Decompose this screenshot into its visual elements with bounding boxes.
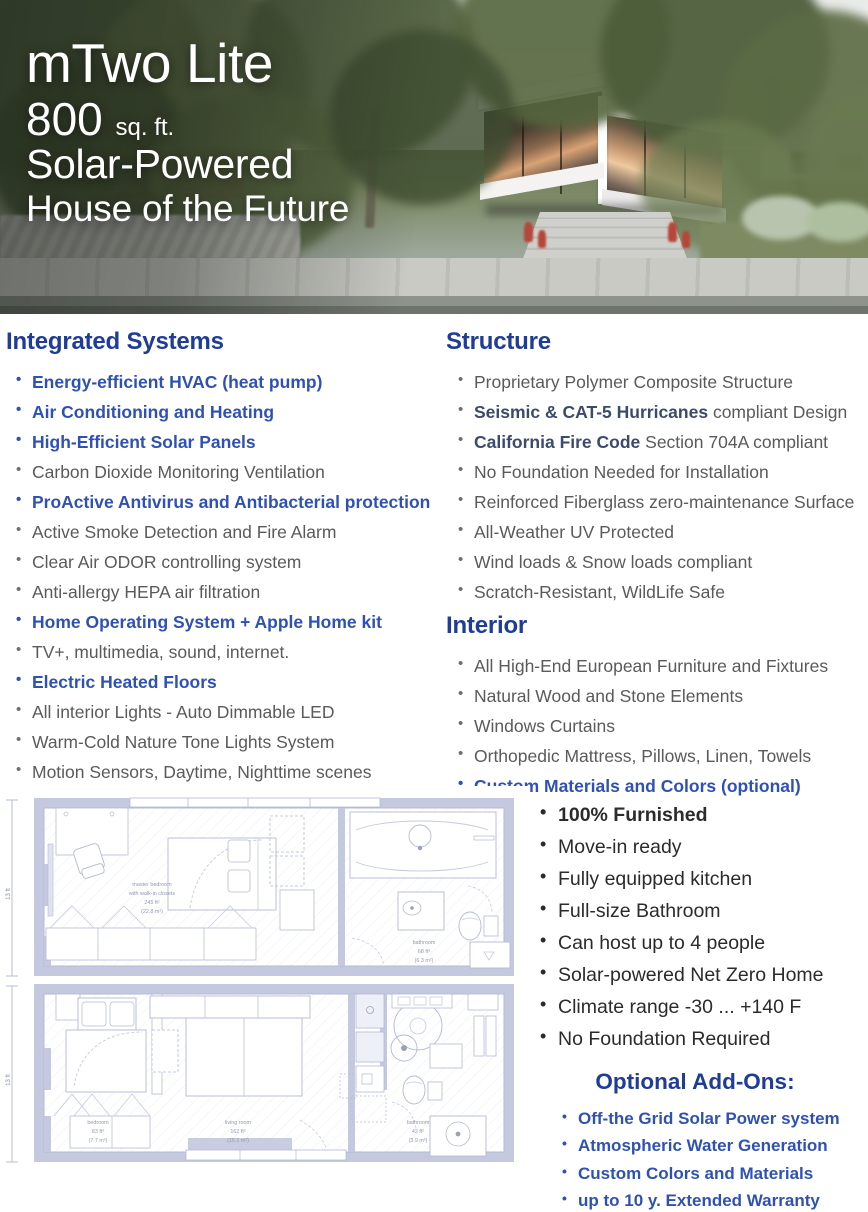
dim-label-top: 13 ft <box>6 888 12 900</box>
room-label-sqm: (7.7 m²) <box>89 1138 108 1144</box>
structure-item-emphasis: California Fire Code <box>474 432 640 452</box>
flower <box>538 230 546 248</box>
structure-list: Proprietary Polymer Composite StructureS… <box>446 372 860 603</box>
feature-list-item: Home Operating System + Apple Home kit <box>6 612 432 633</box>
room-label-sqft: 162 ft² <box>230 1129 245 1135</box>
feature-list-item: ProActive Antivirus and Antibacterial pr… <box>6 492 432 513</box>
highlight-list-item: Climate range -30 ... +140 F <box>528 996 868 1019</box>
dim-label-bottom: 13 ft <box>6 1074 12 1086</box>
lower-unit: bedroom 83 ft² (7.7 m²) living room 162 … <box>34 984 514 1162</box>
feature-list-item: Active Smoke Detection and Fire Alarm <box>6 522 432 543</box>
room-label-name: living room <box>225 1120 252 1126</box>
bottom-section: 13 ft 13 ft <box>0 786 868 1172</box>
structure-list-item: Scratch-Resistant, WildLife Safe <box>446 582 860 603</box>
integrated-systems-list: Energy-efficient HVAC (heat pump)Air Con… <box>6 372 432 813</box>
structure-item-emphasis: Seismic & CAT-5 Hurricanes <box>474 402 708 422</box>
feature-list-item: Warm-Cold Nature Tone Lights System <box>6 732 432 753</box>
room-label-sqm: (22.8 m²) <box>141 909 163 915</box>
room-label-sqft: 83 ft² <box>92 1129 104 1135</box>
structure-list-item: California Fire Code Section 704A compli… <box>446 432 860 453</box>
highlight-list-item: 100% Furnished <box>528 804 868 827</box>
highlight-list-item: Move-in ready <box>528 836 868 859</box>
interior-list-item: All High-End European Furniture and Fixt… <box>446 656 860 677</box>
room-label-sqft: 245 ft² <box>144 900 159 906</box>
room-label-sqm: (3.9 m²) <box>409 1138 428 1144</box>
hero-area-unit: sq. ft. <box>116 114 175 141</box>
feature-list-item: High-Efficient Solar Panels <box>6 432 432 453</box>
feature-columns: Integrated Systems Energy-efficient HVAC… <box>0 314 868 822</box>
structure-list-item: Reinforced Fiberglass zero-maintenance S… <box>446 492 860 513</box>
interior-list-item: Orthopedic Mattress, Pillows, Linen, Tow… <box>446 746 860 767</box>
addon-list-item: up to 10 y. Extended Warranty <box>556 1191 868 1211</box>
column-right: Structure Proprietary Polymer Composite … <box>438 314 868 822</box>
room-label-name: master bedroom <box>132 882 172 888</box>
room-label-name: bathroom <box>407 1120 430 1126</box>
feature-list-item: Air Conditioning and Heating <box>6 402 432 423</box>
feature-list-item: All interior Lights - Auto Dimmable LED <box>6 702 432 723</box>
hero-area-number: 800 <box>26 93 103 145</box>
feature-list-item: Anti-allergy HEPA air filtration <box>6 582 432 603</box>
highlight-list-item: Can host up to 4 people <box>528 932 868 955</box>
brochure-page: mTwo Lite 800 sq. ft. Solar-Powered Hous… <box>0 0 868 1172</box>
feature-list-item: Motion Sensors, Daytime, Nighttime scene… <box>6 762 432 783</box>
interior-list-item: Windows Curtains <box>446 716 860 737</box>
structure-list-item: Seismic & CAT-5 Hurricanes compliant Des… <box>446 402 860 423</box>
hero-title: mTwo Lite <box>26 34 466 92</box>
room-label-name: bathroom <box>413 940 436 946</box>
addon-list-item: Atmospheric Water Generation <box>556 1136 868 1156</box>
flower <box>668 222 677 242</box>
interior-list: All High-End European Furniture and Fixt… <box>446 656 860 797</box>
flower <box>682 231 690 248</box>
feature-list-item: TV+, multimedia, sound, internet. <box>6 642 432 663</box>
hero-banner: mTwo Lite 800 sq. ft. Solar-Powered Hous… <box>0 0 868 314</box>
highlight-list-item: No Foundation Required <box>528 1028 868 1051</box>
room-label-name: bedroom <box>87 1120 109 1126</box>
interior-list-item: Natural Wood and Stone Elements <box>446 686 860 707</box>
structure-list-item: All-Weather UV Protected <box>446 522 860 543</box>
bottom-right-panel: 100% FurnishedMove-in readyFully equippe… <box>528 786 868 1172</box>
structure-heading: Structure <box>446 328 860 356</box>
addon-list-item: Off-the Grid Solar Power system <box>556 1109 868 1129</box>
structure-list-item: Proprietary Polymer Composite Structure <box>446 372 860 393</box>
hero-subtitle-2: House of the Future <box>26 188 466 230</box>
upper-unit: master bedroom with walk-in closets 245 … <box>34 798 514 976</box>
highlight-list-item: Fully equipped kitchen <box>528 868 868 891</box>
floor-plan-drawing: 13 ft 13 ft <box>0 786 528 1172</box>
flower <box>524 222 533 242</box>
feature-list-item: Energy-efficient HVAC (heat pump) <box>6 372 432 393</box>
floor-plan: 13 ft 13 ft <box>0 786 528 1172</box>
interior-heading: Interior <box>446 612 860 640</box>
room-label-sqm: (15.1 m²) <box>227 1138 249 1144</box>
highlight-list-item: Solar-powered Net Zero Home <box>528 964 868 987</box>
hero-text-block: mTwo Lite 800 sq. ft. Solar-Powered Hous… <box>26 34 466 230</box>
feature-list-item: Electric Heated Floors <box>6 672 432 693</box>
feature-list-item: Clear Air ODOR controlling system <box>6 552 432 573</box>
room-label-sqft: 68 ft² <box>418 949 430 955</box>
room-label-sqm: (6.3 m²) <box>415 958 434 964</box>
feature-list-item: Carbon Dioxide Monitoring Ventilation <box>6 462 432 483</box>
room-label-sub: with walk-in closets <box>128 891 175 897</box>
hero-area-line: 800 sq. ft. <box>26 96 466 142</box>
structure-list-item: No Foundation Needed for Installation <box>446 462 860 483</box>
structure-list-item: Wind loads & Snow loads compliant <box>446 552 860 573</box>
addons-list: Off-the Grid Solar Power systemAtmospher… <box>528 1109 868 1212</box>
highlights-list: 100% FurnishedMove-in readyFully equippe… <box>528 804 868 1051</box>
integrated-systems-heading: Integrated Systems <box>6 328 432 356</box>
highlight-list-item: Full-size Bathroom <box>528 900 868 923</box>
shrub <box>806 202 868 242</box>
addons-heading: Optional Add-Ons: <box>528 1069 868 1095</box>
column-left: Integrated Systems Energy-efficient HVAC… <box>0 314 438 822</box>
room-label-sqft: 42 ft² <box>412 1129 424 1135</box>
hero-subtitle-1: Solar-Powered <box>26 142 466 188</box>
addon-list-item: Custom Colors and Materials <box>556 1164 868 1184</box>
